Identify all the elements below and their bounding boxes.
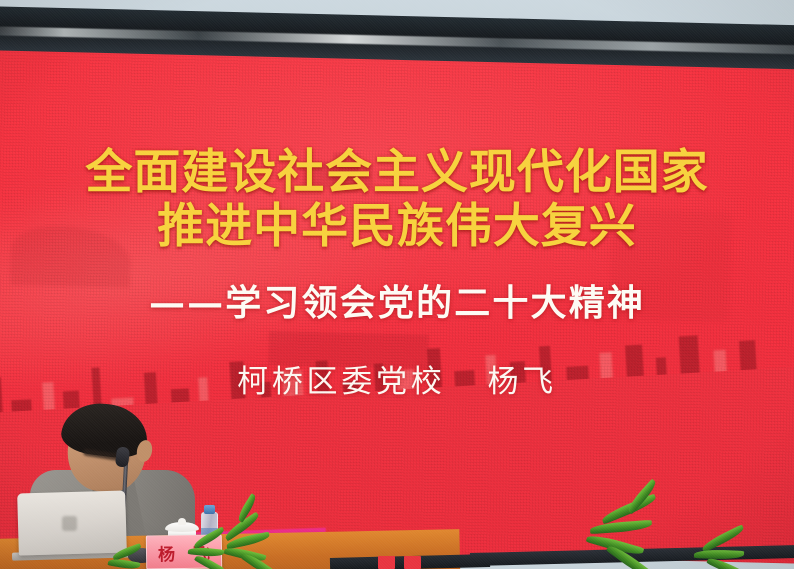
slide-title-line-2: 推进中华民族伟大复兴	[0, 200, 794, 254]
slide-subtitle: ——学习领会党的二十大精神	[0, 274, 794, 326]
slide-presenter-line: 柯桥区委党校杨飞	[0, 356, 794, 401]
screenshot-root: 全面建设社会主义现代化国家 推进中华民族伟大复兴 ——学习领会党的二十大精神 柯…	[0, 0, 794, 569]
slide-title-line-1: 全面建设社会主义现代化国家	[0, 146, 794, 200]
presenter-name: 杨飞	[487, 364, 556, 400]
slide-text-layer: 全面建设社会主义现代化国家 推进中华民族伟大复兴 ——学习领会党的二十大精神 柯…	[0, 0, 794, 569]
presenter-org: 柯桥区委党校	[237, 364, 445, 400]
